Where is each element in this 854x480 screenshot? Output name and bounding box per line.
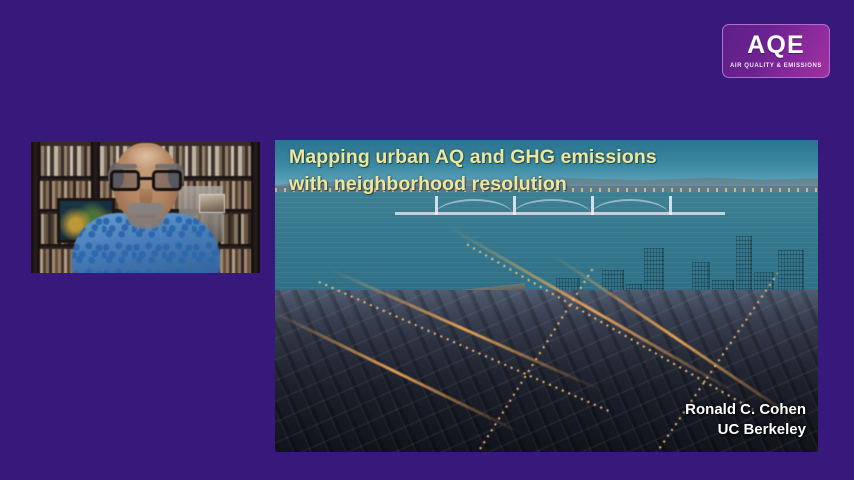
slide-title-line-1: Mapping urban AQ and GHG emissions	[289, 144, 709, 171]
slide-credit-affiliation: UC Berkeley	[685, 420, 806, 440]
video-call-stage: AQE AIR QUALITY & EMISSIONS	[0, 0, 854, 480]
slide-credit: Ronald C. Cohen UC Berkeley	[685, 400, 806, 441]
shared-slide[interactable]: Mapping urban AQ and GHG emissions with …	[275, 140, 818, 452]
speaker-video-tile[interactable]	[31, 142, 260, 273]
slide-credit-name: Ronald C. Cohen	[685, 400, 806, 420]
slide-title: Mapping urban AQ and GHG emissions with …	[289, 144, 709, 198]
speaker-glasses	[110, 170, 182, 191]
glasses-bridge	[140, 177, 152, 180]
glasses-lens-left	[110, 170, 140, 191]
bridge-cable-1	[435, 199, 513, 215]
speaker-eyebrow-right	[155, 164, 177, 169]
aqe-logo-title: AQE	[747, 33, 805, 58]
speaker-eyebrow-left	[115, 164, 137, 169]
speaker-mustache	[128, 203, 164, 213]
speaker-figure	[31, 165, 260, 273]
aqe-logo: AQE AIR QUALITY & EMISSIONS	[722, 24, 830, 78]
slide-title-line-2: with neighborhood resolution	[289, 171, 709, 198]
aqe-logo-tagline: AIR QUALITY & EMISSIONS	[730, 63, 822, 69]
glasses-lens-right	[152, 170, 182, 191]
